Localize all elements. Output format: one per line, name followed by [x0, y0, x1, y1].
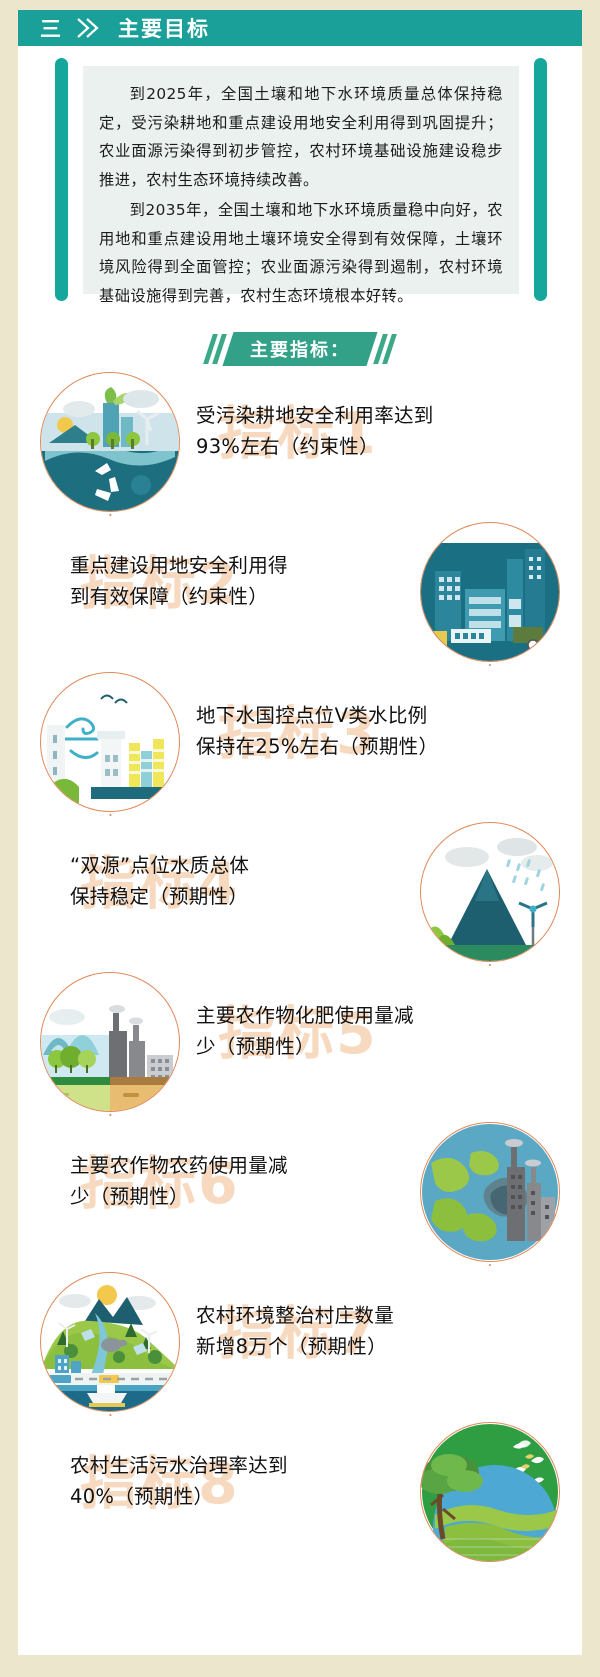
- indicators-banner: 主要指标：: [18, 332, 582, 366]
- indicator-list: 受污染耕地安全利用率达到 93%左右（约束性） 指标1: [18, 366, 582, 1566]
- indicator-row: 受污染耕地安全利用率达到 93%左右（约束性） 指标1: [18, 366, 582, 516]
- indicator-text: 农村环境整治村庄数量 新增8万个（预期性）: [196, 1300, 496, 1362]
- indicator-row: 主要农作物农药使用量减 少（预期性） 指标6: [18, 1116, 582, 1266]
- indicator-row: 农村生活污水治理率达到 40%（预期性） 指标8: [18, 1416, 582, 1566]
- indicator-label-line2: 到有效保障（约束性）: [70, 581, 370, 612]
- section-header: 三 主要目标: [18, 10, 582, 46]
- indicator-row: 农村环境整治村庄数量 新增8万个（预期性） 指标7: [18, 1266, 582, 1416]
- indicator-label-line2: 新增8万个（预期性）: [196, 1331, 496, 1362]
- indicator-text: 受污染耕地安全利用率达到 93%左右（约束性）: [196, 400, 496, 462]
- banner-label: 主要指标：: [250, 336, 350, 362]
- globe-factory-pollution-icon: [420, 1122, 560, 1262]
- indicator-row: 主要农作物化肥使用量减 少（预期性） 指标5: [18, 966, 582, 1116]
- quote-bracket-right: [534, 58, 547, 301]
- indicator-row: 重点建设用地安全利用得 到有效保障（约束性） 指标2: [18, 516, 582, 666]
- page-title: 主要目标: [118, 13, 210, 43]
- village-river-transport-icon: [40, 1272, 180, 1412]
- infographic-page: 三 主要目标 到2025年，全国土壤和地下水环境质量总体保持稳定，受污染耕地和重…: [18, 10, 582, 1655]
- double-chevron-right-icon: [74, 16, 104, 40]
- indicator-text: 地下水国控点位Ⅴ类水比例 保持在25%左右（预期性）: [196, 700, 496, 762]
- indicator-label-line1: 重点建设用地安全利用得: [70, 550, 370, 581]
- indicator-text: 农村生活污水治理率达到 40%（预期性）: [70, 1450, 370, 1512]
- quote-bracket-left: [55, 58, 68, 301]
- industrial-buildings-icon: [420, 522, 560, 662]
- groundwater-factory-birds-icon: [40, 672, 180, 812]
- mountain-rain-windmill-icon: [420, 822, 560, 962]
- indicator-label-line2: 保持在25%左右（预期性）: [196, 731, 496, 762]
- indicator-label-line1: 主要农作物化肥使用量减: [196, 1000, 496, 1031]
- indicator-text: 主要农作物化肥使用量减 少（预期性）: [196, 1000, 496, 1062]
- quote-body: 到2025年，全国土壤和地下水环境质量总体保持稳定，受污染耕地和重点建设用地安全…: [83, 66, 519, 294]
- indicator-label-line2: 40%（预期性）: [70, 1481, 370, 1512]
- goal-paragraph-2035: 到2035年，全国土壤和地下水环境质量稳中向好，农用地和重点建设用地土壤环境安全…: [99, 196, 503, 310]
- indicator-label-line1: 农村生活污水治理率达到: [70, 1450, 370, 1481]
- goals-quote-block: 到2025年，全国土壤和地下水环境质量总体保持稳定，受污染耕地和重点建设用地安全…: [55, 58, 547, 301]
- section-number: 三: [40, 13, 62, 43]
- green-earth-tree-birds-icon: [420, 1422, 560, 1562]
- indicator-label-line2: 少（预期性）: [70, 1181, 370, 1212]
- indicator-label-line1: 地下水国控点位Ⅴ类水比例: [196, 700, 496, 731]
- banner-plate: 主要指标：: [222, 332, 377, 366]
- indicator-row: “双源”点位水质总体 保持稳定（预期性） 指标4: [18, 816, 582, 966]
- indicator-label-line2: 93%左右（约束性）: [196, 431, 496, 462]
- indicator-text: 主要农作物农药使用量减 少（预期性）: [70, 1150, 370, 1212]
- indicator-label-line1: 农村环境整治村庄数量: [196, 1300, 496, 1331]
- goal-paragraph-2025: 到2025年，全国土壤和地下水环境质量总体保持稳定，受污染耕地和重点建设用地安全…: [99, 80, 503, 194]
- indicator-text: 重点建设用地安全利用得 到有效保障（约束性）: [70, 550, 370, 612]
- indicator-label-line1: 受污染耕地安全利用率达到: [196, 400, 496, 431]
- indicator-text: “双源”点位水质总体 保持稳定（预期性）: [70, 850, 370, 912]
- indicator-label-line2: 少（预期性）: [196, 1031, 496, 1062]
- indicator-label-line2: 保持稳定（预期性）: [70, 881, 370, 912]
- eco-city-recycle-earth-icon: [40, 372, 180, 512]
- farmland-soil-factory-icon: [40, 972, 180, 1112]
- indicator-label-line1: 主要农作物农药使用量减: [70, 1150, 370, 1181]
- indicator-label-line1: “双源”点位水质总体: [70, 850, 370, 881]
- indicator-row: 地下水国控点位Ⅴ类水比例 保持在25%左右（预期性） 指标3: [18, 666, 582, 816]
